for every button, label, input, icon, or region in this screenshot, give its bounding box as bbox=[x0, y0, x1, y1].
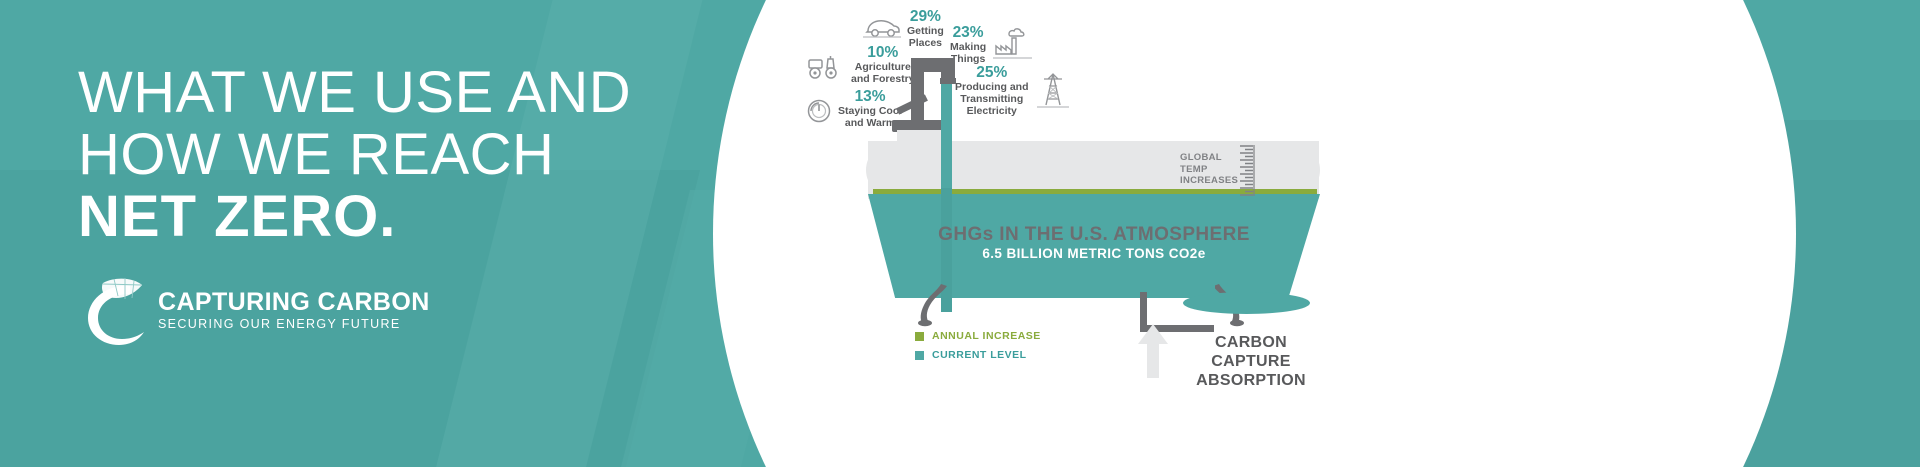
ghg-subtitle: 6.5 BILLION METRIC TONS CO2e bbox=[868, 246, 1320, 261]
leaf-in-crescent-icon bbox=[78, 272, 154, 348]
source-callout-staying-cool-warm: 13% Staying Cool and Warm bbox=[806, 88, 902, 129]
ruler-gauge-icon bbox=[1236, 145, 1256, 202]
legend-row-current-level: CURRENT LEVEL bbox=[915, 349, 1041, 361]
factory-icon bbox=[992, 24, 1034, 67]
headline-line-3: NET ZERO. bbox=[78, 186, 631, 248]
source-callout-getting-places: 29% Getting Places bbox=[862, 8, 944, 49]
global-temp-line-3: INCREASES bbox=[1180, 175, 1238, 187]
tractor-icon bbox=[806, 54, 846, 85]
source-percent: 25% bbox=[955, 64, 1029, 81]
up-arrow-icon bbox=[1136, 322, 1170, 385]
source-percent: 29% bbox=[907, 8, 944, 25]
page-title: WHAT WE USE AND HOW WE REACH NET ZERO. bbox=[78, 62, 631, 248]
absorption-puddle bbox=[1183, 292, 1310, 314]
source-label-line-1: Making bbox=[950, 41, 986, 53]
headline-line-2: HOW WE REACH bbox=[78, 124, 631, 186]
source-label-line-1: Getting bbox=[907, 25, 944, 37]
thermostat-icon bbox=[806, 98, 832, 129]
car-icon bbox=[862, 17, 902, 44]
legend-label-current-level: CURRENT LEVEL bbox=[932, 349, 1027, 361]
net-zero-banner: WHAT WE USE AND HOW WE REACH NET ZERO. C… bbox=[0, 0, 1920, 467]
source-callout-producing-transmitting-electricity: 25% Producing and Transmitting Electrici… bbox=[955, 64, 1071, 117]
logo-text: CAPTURING CARBON SECURING OUR ENERGY FUT… bbox=[158, 289, 430, 332]
source-label-line-1: Producing and bbox=[955, 81, 1029, 93]
ghg-title: GHGs IN THE U.S. ATMOSPHERE bbox=[868, 224, 1320, 246]
legend-label-annual-increase: ANNUAL INCREASE bbox=[932, 330, 1041, 342]
source-percent: 23% bbox=[950, 24, 986, 41]
source-label-line-2: and Forestry bbox=[851, 73, 915, 85]
legend-swatch-annual-increase bbox=[915, 332, 924, 341]
bathtub-leg-left bbox=[915, 283, 951, 323]
faucet-neck bbox=[941, 58, 955, 80]
source-callout-text: 29% Getting Places bbox=[907, 8, 944, 49]
logo[interactable]: CAPTURING CARBON SECURING OUR ENERGY FUT… bbox=[78, 272, 430, 348]
source-percent: 13% bbox=[838, 88, 902, 105]
global-temp-line-1: GLOBAL bbox=[1180, 152, 1238, 164]
source-label-line-1: Staying Cool bbox=[838, 105, 902, 117]
source-percent: 10% bbox=[851, 44, 915, 61]
carbon-capture-line-2: ABSORPTION bbox=[1176, 371, 1326, 390]
source-callout-text: 25% Producing and Transmitting Electrici… bbox=[955, 64, 1029, 117]
carbon-capture-line-1: CARBON CAPTURE bbox=[1176, 333, 1326, 371]
power-tower-icon bbox=[1035, 71, 1071, 116]
global-temp-label: GLOBAL TEMP INCREASES bbox=[1180, 152, 1238, 187]
source-label-line-1: Agriculture bbox=[851, 61, 915, 73]
logo-title: CAPTURING CARBON bbox=[158, 289, 430, 315]
source-callout-agriculture-forestry: 10% Agriculture and Forestry bbox=[806, 44, 915, 85]
source-callout-text: 23% Making Things bbox=[950, 24, 986, 65]
source-callout-making-things: 23% Making Things bbox=[950, 22, 1034, 67]
logo-subtitle: SECURING OUR ENERGY FUTURE bbox=[158, 317, 430, 332]
water-stream-icon bbox=[941, 84, 952, 202]
source-label-line-3: Electricity bbox=[955, 105, 1029, 117]
legend-row-annual-increase: ANNUAL INCREASE bbox=[915, 330, 1041, 342]
headline-line-1: WHAT WE USE AND bbox=[78, 62, 631, 124]
source-label-line-2: Transmitting bbox=[955, 93, 1029, 105]
legend: ANNUAL INCREASE CURRENT LEVEL bbox=[915, 330, 1041, 368]
source-callout-text: 10% Agriculture and Forestry bbox=[851, 44, 915, 85]
global-temp-line-2: TEMP bbox=[1180, 164, 1238, 176]
legend-swatch-current-level bbox=[915, 351, 924, 360]
carbon-capture-absorption-label: CARBON CAPTURE ABSORPTION bbox=[1176, 333, 1326, 390]
